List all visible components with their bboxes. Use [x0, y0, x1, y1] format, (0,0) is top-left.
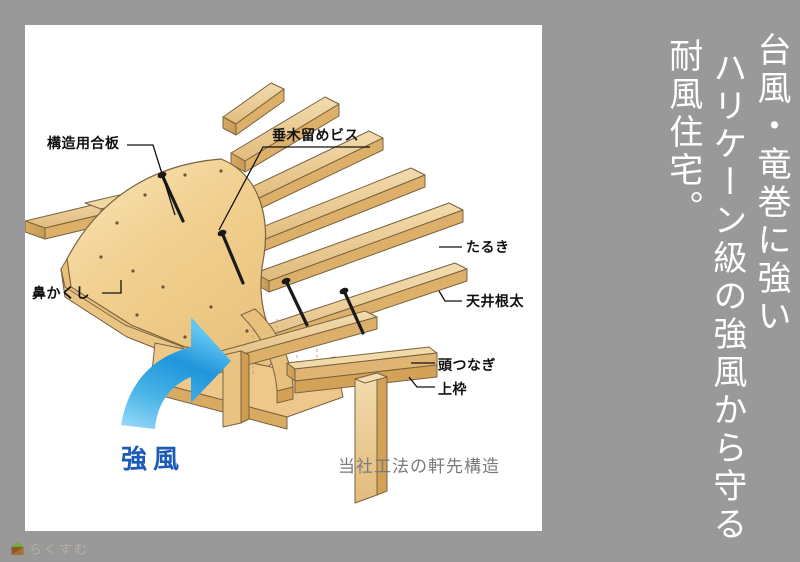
label-fascia-board: 鼻かくし	[32, 283, 90, 303]
headline-column-3: 耐風住宅。	[662, 38, 702, 228]
vertical-post	[355, 373, 387, 503]
headline-column-1: 台風・竜巻に強い	[750, 32, 790, 336]
screenshot-root: 構造用合板 鼻かくし 垂木留めビス たるき 天井根太 頭つなぎ 上枠 強風 当社…	[0, 0, 800, 562]
diagram-caption: 当社工法の軒先構造	[338, 452, 500, 477]
illustration-panel: 構造用合板 鼻かくし 垂木留めビス たるき 天井根太 頭つなぎ 上枠 強風 当社…	[25, 25, 542, 531]
label-top-plate: 上枠	[438, 379, 467, 399]
headline-block: 台風・竜巻に強い ハリケーン級の強風から守る 耐風住宅。	[600, 18, 790, 538]
label-structural-plywood: 構造用合板	[47, 133, 120, 153]
wind-label: 強風	[121, 439, 185, 476]
structural-plywood-panel	[61, 159, 281, 370]
label-rafter: たるき	[466, 237, 510, 257]
label-head-binder: 頭つなぎ	[438, 355, 496, 375]
headline-column-2: ハリケーン級の強風から守る	[706, 50, 746, 544]
house-logo-icon	[10, 541, 25, 556]
site-logo[interactable]: らくすむ	[10, 539, 89, 558]
label-ceiling-joist: 天井根太	[466, 291, 524, 311]
label-rafter-screw: 垂木留めビス	[272, 125, 359, 145]
logo-text: らくすむ	[29, 539, 89, 558]
